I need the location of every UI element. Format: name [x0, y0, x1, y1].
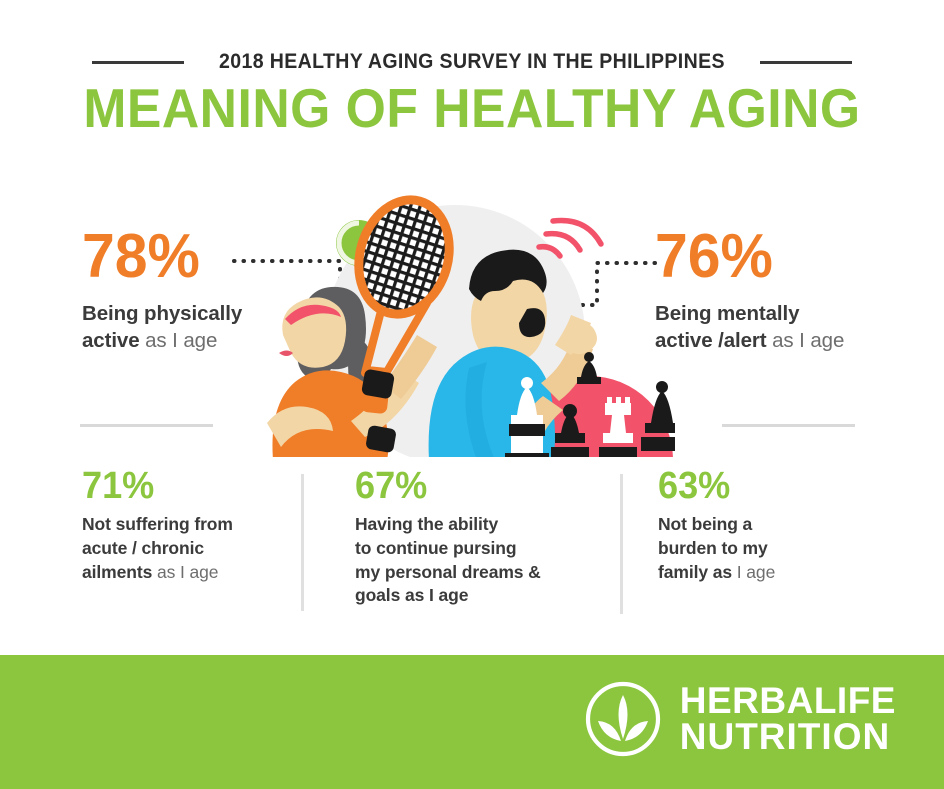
- illustration-seniors-tennis-chess: [255, 185, 675, 460]
- stat-line-2-suffix: as I age: [767, 329, 845, 352]
- stat-line-3-suffix: I age: [732, 562, 775, 582]
- stat-percent: 71%: [82, 468, 277, 504]
- herbalife-logo: HERBALIFE NUTRITION: [584, 680, 896, 758]
- divider-horizontal-right: [722, 424, 855, 427]
- stat-line-1: Not suffering from: [82, 514, 233, 534]
- stat-description: Not suffering from acute / chronic ailme…: [82, 513, 287, 584]
- stat-line-3: ailments: [82, 562, 152, 582]
- stat-line-2: active: [82, 329, 140, 352]
- stat-card-not-suffering-ailments: 71% Not suffering from acute / chronic a…: [82, 468, 287, 584]
- header: 2018 HEALTHY AGING SURVEY IN THE PHILIPP…: [0, 50, 944, 138]
- header-rule-right: [760, 61, 852, 64]
- stat-line-2: acute / chronic: [82, 538, 204, 558]
- stat-line-2-suffix: as I age: [140, 329, 218, 352]
- stat-card-pursuing-personal-dreams: 67% Having the ability to continue pursi…: [355, 468, 590, 608]
- stat-line-1: Not being a: [658, 514, 752, 534]
- stat-line-4: goals as I age: [355, 585, 468, 605]
- divider-vertical-1: [301, 474, 304, 611]
- stat-line-3: family as: [658, 562, 732, 582]
- stat-percent: 63%: [658, 468, 858, 504]
- stat-line-3: my personal dreams &: [355, 562, 541, 582]
- stat-line-2: active /alert: [655, 329, 767, 352]
- brand-line-1: HERBALIFE: [680, 683, 896, 719]
- stat-line-3-suffix: as I age: [152, 562, 218, 582]
- wristband-lower: [365, 425, 397, 453]
- stat-line-2: to continue pursing: [355, 538, 516, 558]
- divider-horizontal-left: [80, 424, 213, 427]
- stat-percent: 67%: [355, 468, 578, 504]
- stat-line-1: Being mentally: [655, 302, 799, 325]
- wristband-upper: [361, 369, 395, 400]
- stat-card-being-physically-active: 78% Being physically active as I age: [82, 228, 282, 354]
- header-rule-left: [92, 61, 184, 64]
- stat-description: Not being a burden to my family as I age: [658, 513, 868, 584]
- stat-description: Being mentally active /alert as I age: [655, 300, 885, 354]
- stat-card-not-being-a-burden: 63% Not being a burden to my family as I…: [658, 468, 868, 584]
- stat-line-1: Being physically: [82, 302, 242, 325]
- stat-percent: 76%: [655, 228, 874, 287]
- divider-vertical-2: [620, 474, 623, 614]
- stat-line-2: burden to my: [658, 538, 768, 558]
- stat-percent: 78%: [82, 228, 272, 287]
- infographic-canvas: 2018 HEALTHY AGING SURVEY IN THE PHILIPP…: [0, 0, 944, 789]
- page-title: MEANING OF HEALTHY AGING: [28, 80, 915, 138]
- herbalife-leaf-logo-icon: [584, 680, 662, 758]
- stat-line-1: Having the ability: [355, 514, 498, 534]
- footer-band: HERBALIFE NUTRITION: [0, 655, 944, 789]
- stat-card-being-mentally-active: 76% Being mentally active /alert as I ag…: [655, 228, 885, 354]
- brand-line-2: NUTRITION: [680, 719, 896, 755]
- stat-description: Having the ability to continue pursing m…: [355, 513, 590, 608]
- header-kicker-row: 2018 HEALTHY AGING SURVEY IN THE PHILIPP…: [0, 50, 944, 74]
- stat-description: Being physically active as I age: [82, 300, 282, 354]
- herbalife-wordmark: HERBALIFE NUTRITION: [680, 683, 896, 755]
- survey-kicker: 2018 HEALTHY AGING SURVEY IN THE PHILIPP…: [219, 50, 725, 74]
